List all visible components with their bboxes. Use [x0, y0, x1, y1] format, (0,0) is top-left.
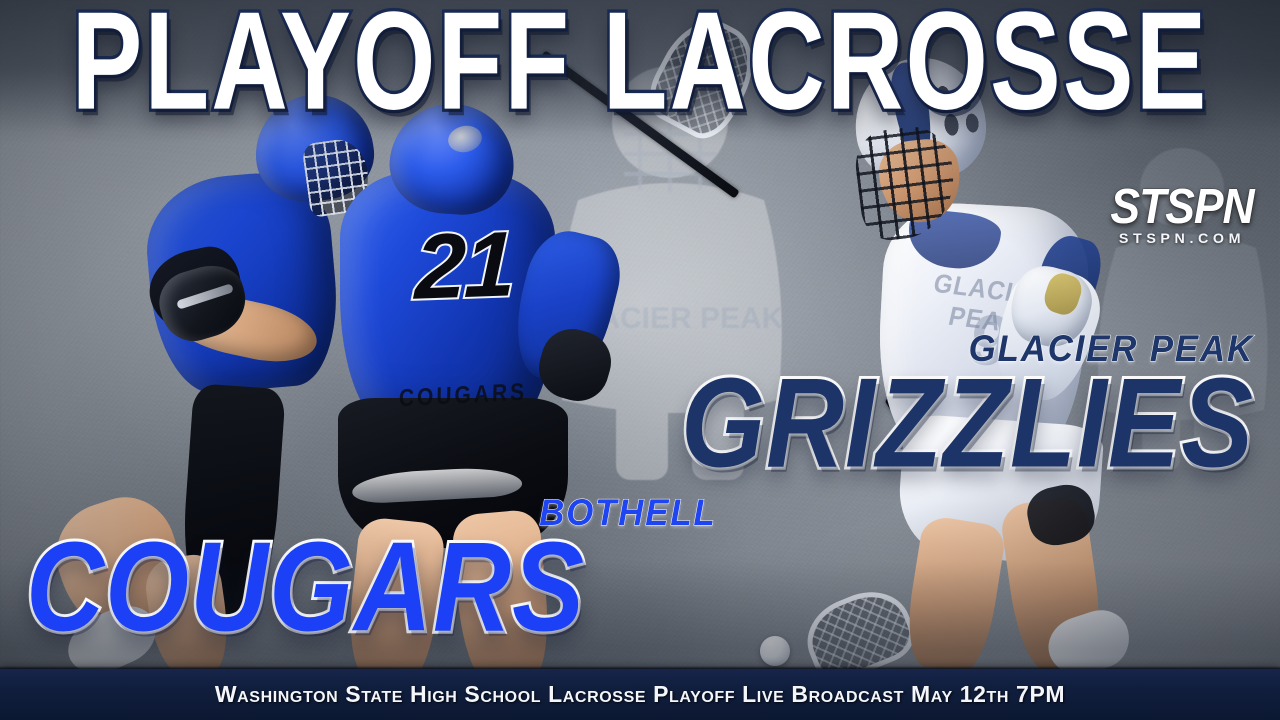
stspn-url: STSPN.COM: [1102, 231, 1261, 245]
broadcast-banner: Washington State High School Lacrosse Pl…: [0, 669, 1280, 720]
team-mascot-cougars: COUGARS: [26, 523, 761, 650]
stspn-logo[interactable]: STSPN STSPN.COM: [1104, 186, 1260, 248]
team-mascot-grizzlies: GRIZZLIES: [681, 359, 1254, 486]
stspn-wordmark: STSPN: [1099, 183, 1264, 232]
team-block-glacier-peak: GLACIER PEAK GRIZZLIES: [681, 330, 1254, 477]
playoff-lacrosse-poster: GLACIER PEAK 34: [0, 0, 1280, 720]
team-block-bothell: BOTHELL COUGARS: [26, 494, 761, 641]
page-title: PLAYOFF LACROSSE: [0, 0, 1280, 131]
broadcast-banner-text: Washington State High School Lacrosse Pl…: [215, 681, 1065, 708]
